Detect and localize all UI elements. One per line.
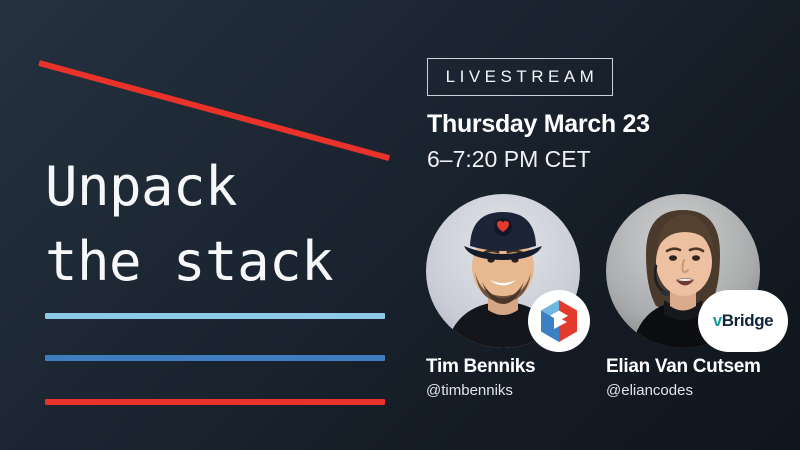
avatar-wrap [426, 194, 580, 348]
speaker-card-tim-benniks: Tim Benniks @timbenniks [426, 194, 601, 399]
hexagon-play-logo-badge [528, 290, 590, 352]
speaker-handle: @eliancodes [606, 382, 781, 399]
vbridge-v-letter: v [713, 311, 722, 330]
livestream-badge-label: LIVESTREAM [442, 67, 599, 87]
right-panel: LIVESTREAM Thursday March 23 6–7:20 PM C… [410, 0, 800, 450]
avatar-wrap: vBridge [606, 194, 760, 348]
blue-rule [45, 355, 385, 361]
event-date: Thursday March 23 [427, 110, 650, 139]
decorative-rule-group [45, 313, 385, 405]
speaker-name: Tim Benniks [426, 356, 601, 378]
page-title: Unpack the stack [45, 150, 405, 299]
event-time: 6–7:20 PM CET [427, 146, 591, 173]
vbridge-rest-letters: Bridge [722, 311, 773, 330]
vbridge-logo-badge: vBridge [698, 290, 788, 352]
diagonal-red-rule-decoration [38, 60, 390, 161]
vbridge-wordmark: vBridge [713, 311, 774, 331]
light-blue-rule [45, 313, 385, 319]
livestream-promo-graphic: Unpack the stack LIVESTREAM Thursday Mar… [0, 0, 800, 450]
livestream-badge: LIVESTREAM [427, 58, 613, 96]
speaker-handle: @timbenniks [426, 382, 601, 399]
left-panel: Unpack the stack [0, 0, 410, 450]
speaker-name: Elian Van Cutsem [606, 356, 781, 378]
red-rule [45, 399, 385, 405]
speaker-card-elian-van-cutsem: vBridge Elian Van Cutsem @eliancodes [606, 194, 781, 399]
